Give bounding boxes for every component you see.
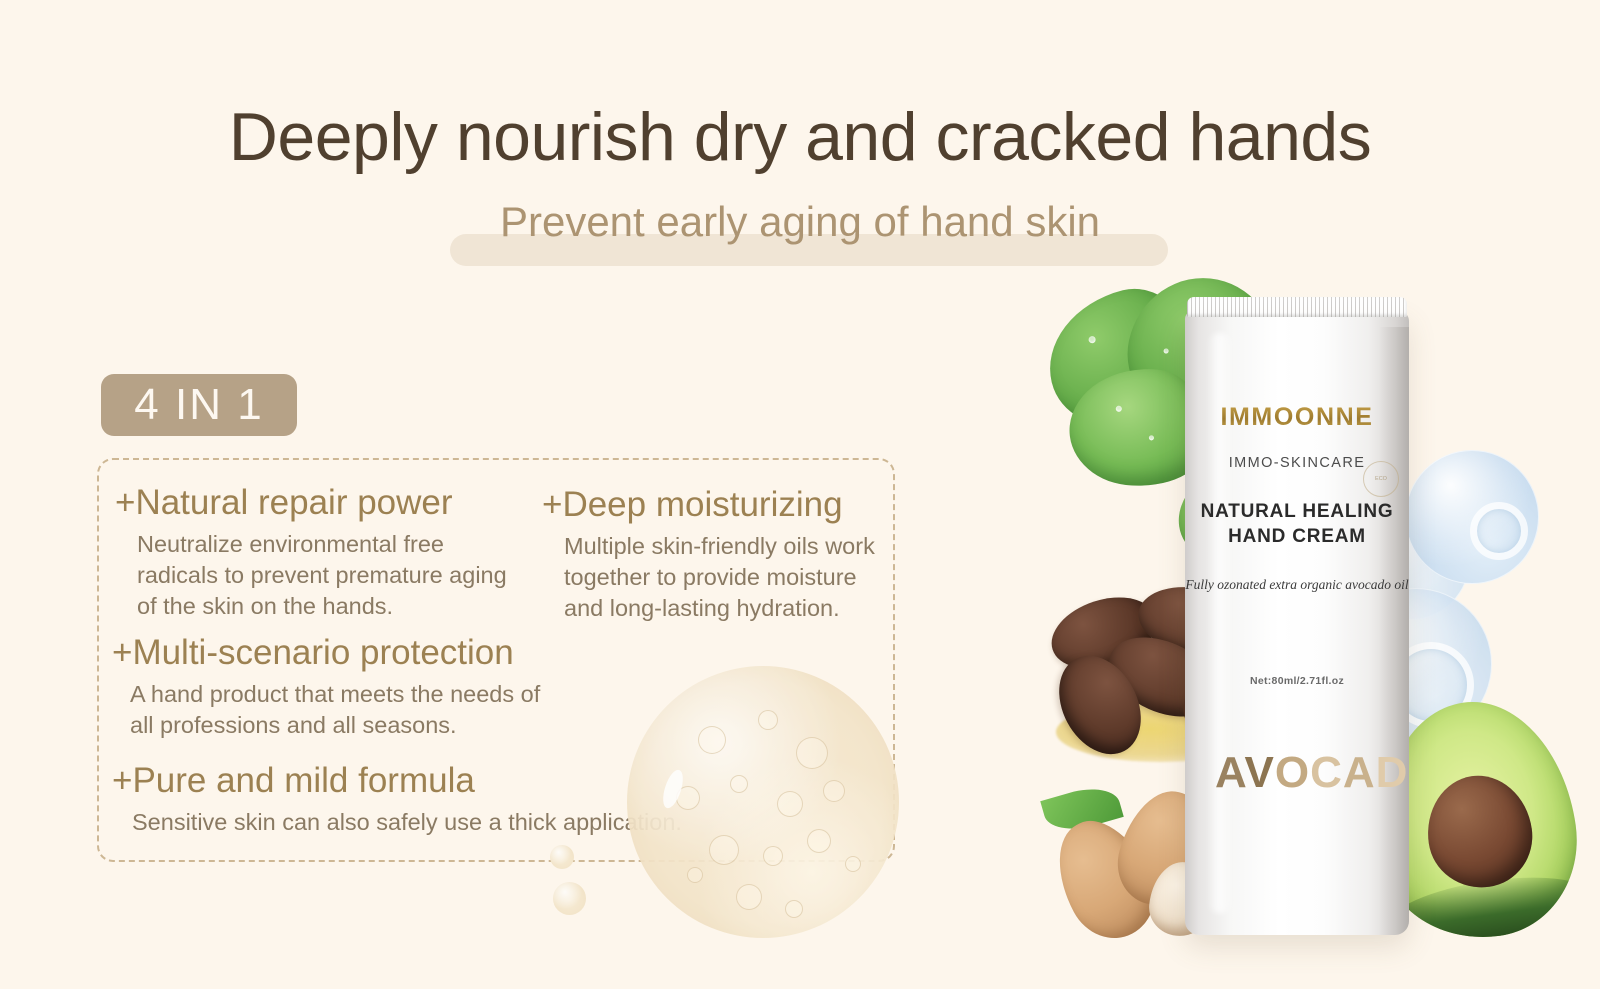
water-ring-icon <box>1470 502 1528 560</box>
cream-gel-blob <box>627 666 899 938</box>
feature-body: Multiple skin-friendly oils work togethe… <box>542 531 902 625</box>
four-in-one-badge: 4 IN 1 <box>101 374 297 436</box>
feature-title: +Multi-scenario protection <box>112 634 552 673</box>
gel-bubble <box>687 867 703 883</box>
gel-bubble <box>807 829 831 853</box>
gel-bubble <box>845 856 861 872</box>
feature-title: +Deep moisturizing <box>542 486 902 525</box>
feature-multi-scenario-protection: +Multi-scenario protection A hand produc… <box>112 634 552 741</box>
page-subtitle: Prevent early aging of hand skin <box>500 198 1100 246</box>
badge-label: 4 IN 1 <box>134 383 263 427</box>
page-title: Deeply nourish dry and cracked hands <box>0 98 1600 176</box>
gel-bubble <box>777 791 803 817</box>
gel-bubble <box>698 726 726 754</box>
product-brand: IMMOONNE <box>1185 403 1409 432</box>
gel-bubble <box>736 884 762 910</box>
gel-bubble <box>823 780 845 802</box>
feature-title: +Natural repair power <box>115 484 515 523</box>
product-poster: Deeply nourish dry and cracked hands Pre… <box>0 0 1600 989</box>
gel-bubble <box>785 900 803 918</box>
gel-bubble <box>796 737 828 769</box>
tube-body: IMMOONNE IMMO-SKINCARE ECO NATURAL HEALI… <box>1185 311 1409 935</box>
gel-bubble <box>730 775 748 793</box>
cream-droplet-medium <box>553 882 586 915</box>
subtitle-block: Prevent early aging of hand skin <box>0 198 1600 268</box>
gel-bubble <box>763 846 783 866</box>
gel-bubble <box>709 835 739 865</box>
product-name: NATURAL HEALING HAND CREAM <box>1185 499 1409 550</box>
feature-body: Neutralize environmental free radicals t… <box>115 529 515 623</box>
tube-crimp-seal <box>1187 297 1407 317</box>
feature-body: A hand product that meets the needs of a… <box>112 679 552 742</box>
feature-natural-repair-power: +Natural repair power Neutralize environ… <box>115 484 515 623</box>
eco-seal-icon: ECO <box>1363 461 1399 497</box>
gel-bubble <box>676 786 700 810</box>
product-tube: IMMOONNE IMMO-SKINCARE ECO NATURAL HEALI… <box>1185 297 1409 935</box>
feature-deep-moisturizing: +Deep moisturizing Multiple skin-friendl… <box>542 486 902 625</box>
cream-droplet-small <box>550 845 574 869</box>
avocado-pit <box>1420 769 1539 894</box>
gel-bubble <box>758 710 778 730</box>
product-bottom-word: AVOCADO <box>1215 751 1409 795</box>
product-tagline: Fully ozonated extra organic avocado oil <box>1185 576 1409 594</box>
product-net-weight: Net:80ml/2.71fl.oz <box>1185 675 1409 687</box>
